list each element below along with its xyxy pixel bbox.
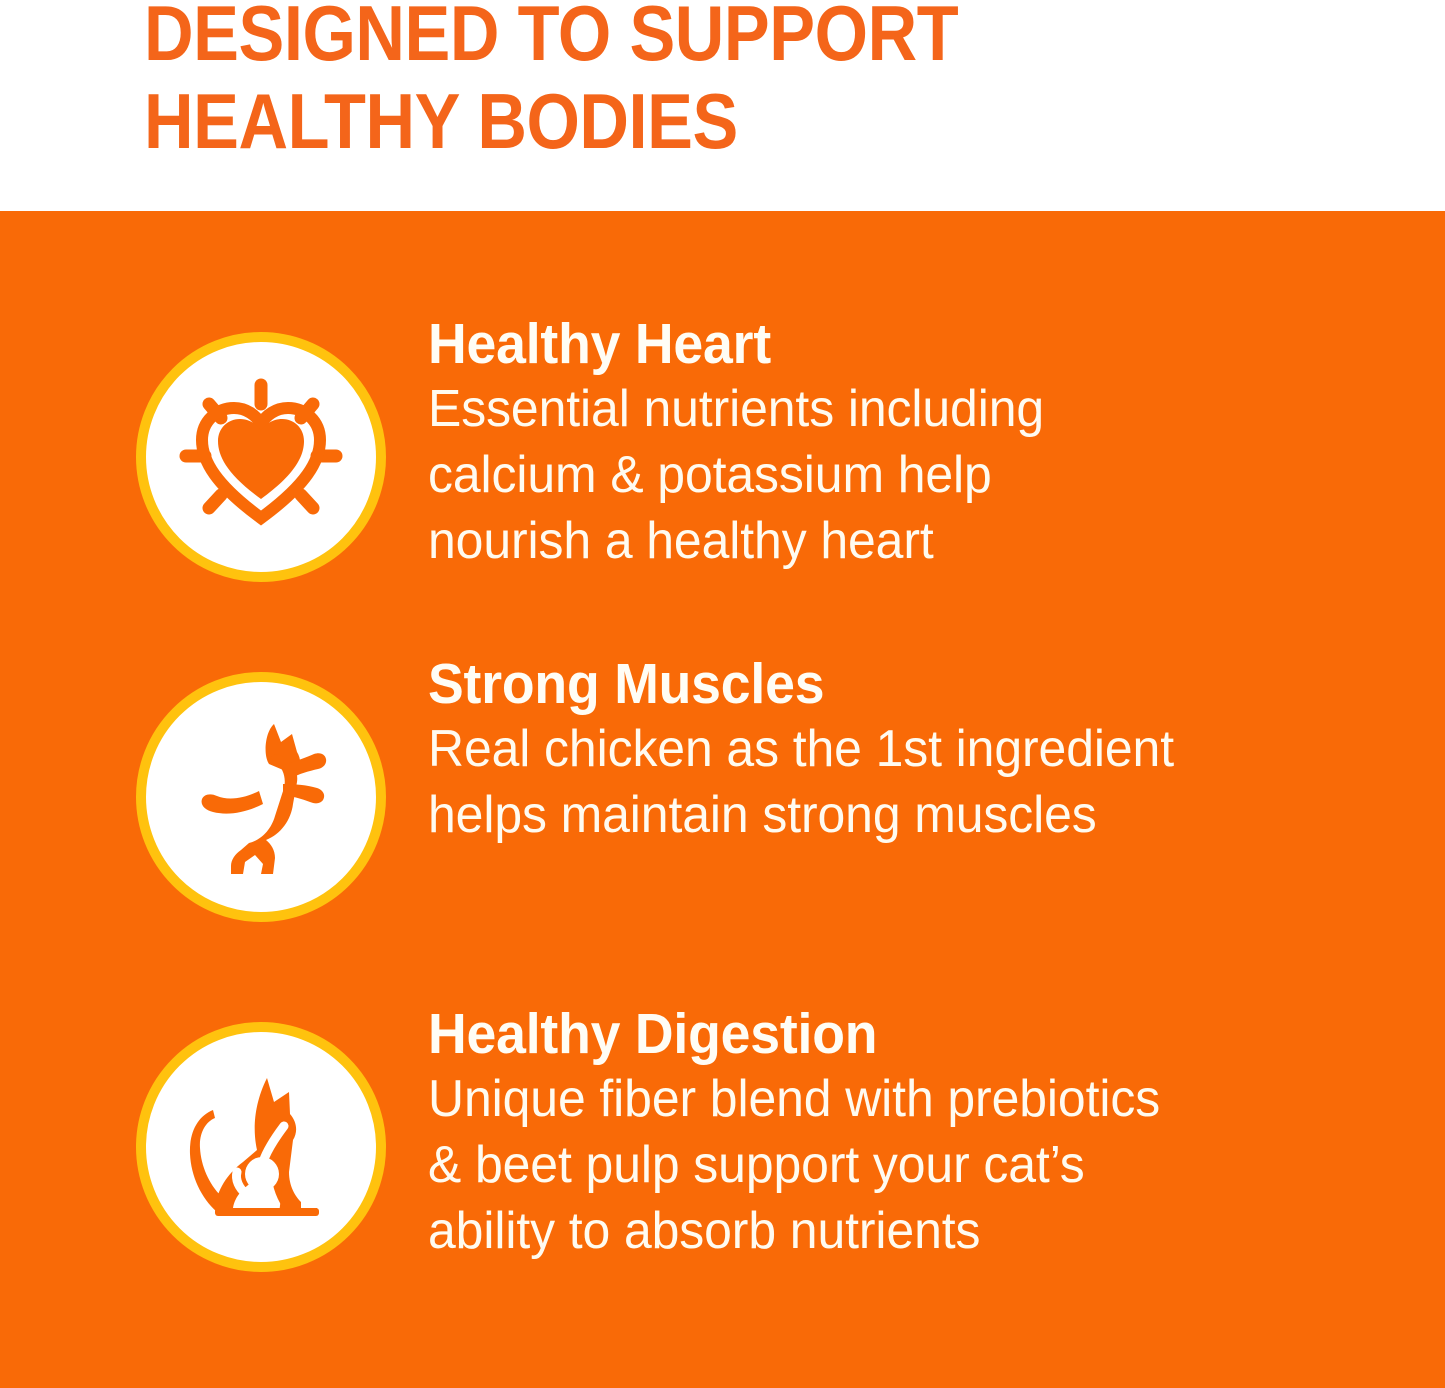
benefit-heading: Healthy Digestion xyxy=(428,1002,1359,1066)
benefit-heading: Healthy Heart xyxy=(428,312,1359,376)
radiant-heart-icon xyxy=(136,332,386,582)
sitting-cat-digestion-icon xyxy=(136,1022,386,1272)
benefit-body: Essential nutrients including calcium & … xyxy=(428,376,1378,574)
benefit-text-block: Healthy Digestion Unique fiber blend wit… xyxy=(428,1002,1418,1264)
page-title: DESIGNED TO SUPPORT HEALTHY BODIES xyxy=(144,0,1112,165)
benefit-heading: Strong Muscles xyxy=(428,652,1359,716)
benefit-body: Unique fiber blend with prebiotics & bee… xyxy=(428,1066,1378,1264)
benefit-text-block: Strong Muscles Real chicken as the 1st i… xyxy=(428,652,1418,848)
benefit-text-block: Healthy Heart Essential nutrients includ… xyxy=(428,312,1418,574)
benefit-body: Real chicken as the 1st ingredient helps… xyxy=(428,716,1378,848)
leaping-cat-icon xyxy=(136,672,386,922)
header-band: DESIGNED TO SUPPORT HEALTHY BODIES xyxy=(0,0,1445,211)
